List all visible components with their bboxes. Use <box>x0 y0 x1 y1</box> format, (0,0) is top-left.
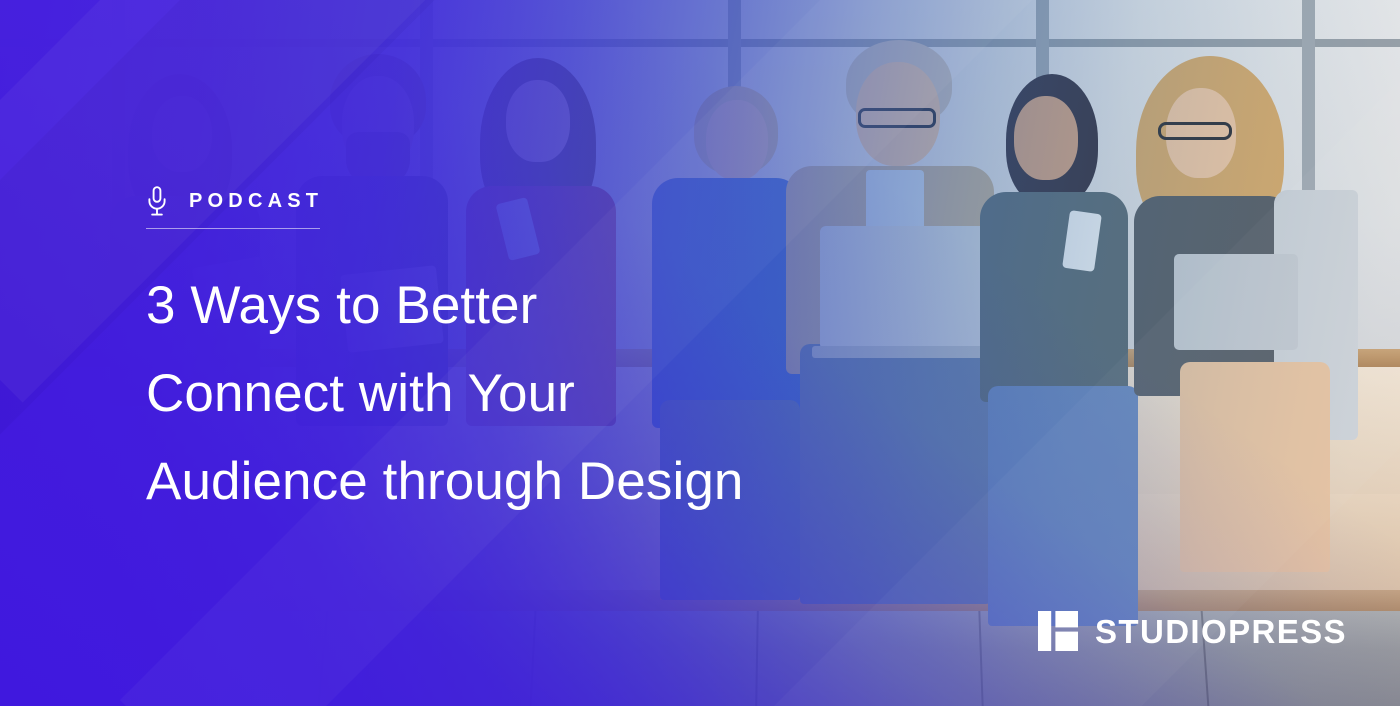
studiopress-wordmark: STUDIOPRESS <box>1095 615 1347 648</box>
studiopress-logo: STUDIOPRESS <box>1038 611 1347 651</box>
podcast-episode-banner: PODCAST 3 Ways to Better Connect with Yo… <box>0 0 1400 706</box>
podcast-eyebrow: PODCAST <box>146 186 323 216</box>
microphone-icon <box>146 186 168 216</box>
eyebrow-divider <box>146 228 320 229</box>
banner-content: PODCAST 3 Ways to Better Connect with Yo… <box>0 0 1400 706</box>
studiopress-mark-icon <box>1038 611 1078 651</box>
podcast-label: PODCAST <box>189 191 323 211</box>
episode-title: 3 Ways to Better Connect with Your Audie… <box>146 262 966 526</box>
